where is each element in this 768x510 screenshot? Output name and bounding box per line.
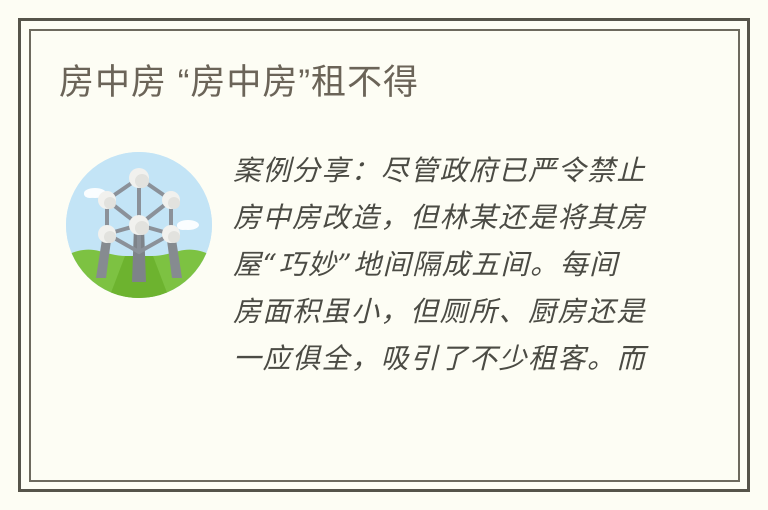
atomium-illustration-svg xyxy=(66,152,212,298)
article-content: 房中房 “房中房”租不得 xyxy=(29,29,740,482)
body-line: 房中房改造，但林某还是将其房 xyxy=(233,194,663,241)
illustration xyxy=(66,152,212,298)
body-line: 一应俱全，吸引了不少租客。而 xyxy=(233,335,663,382)
body-line: 案例分享：尽管政府已严令禁止 xyxy=(233,147,663,194)
atomium-landmark-icon xyxy=(66,152,212,298)
page-canvas: 房中房 “房中房”租不得 xyxy=(0,0,768,510)
page-title: 房中房 “房中房”租不得 xyxy=(59,61,419,105)
body-line: 房面积虽小，但厕所、厨房还是 xyxy=(233,288,663,335)
body-line: 屋“巧妙”地间隔成五间。每间 xyxy=(233,241,663,288)
article-body: 案例分享：尽管政府已严令禁止 房中房改造，但林某还是将其房 屋“巧妙”地间隔成五… xyxy=(233,147,663,382)
